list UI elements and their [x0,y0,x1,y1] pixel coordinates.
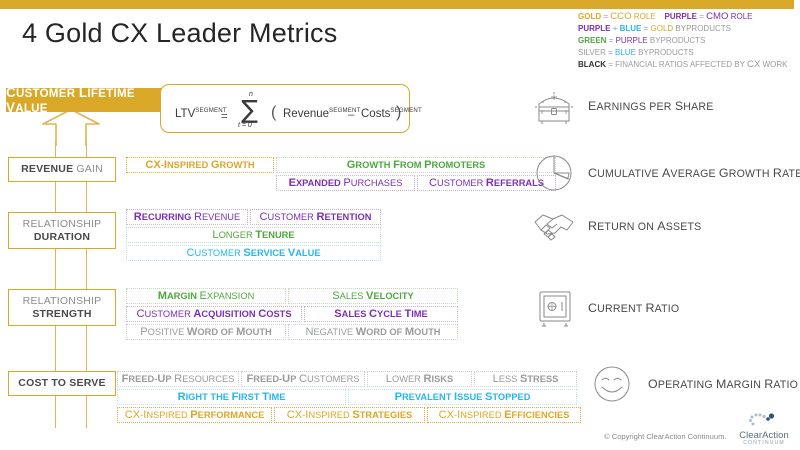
legend-row-green-byproducts: GREEN = PURPLE BYPRODUCTS [578,36,796,46]
legend-eq-3: = [644,24,649,33]
legend-token-blue-2: BLUE [615,48,636,57]
metric-line: Right the First Time Prevalent Issue Sto… [117,389,581,405]
legend-plus: + [613,24,618,33]
legend-token-cmo: CMO [706,11,728,22]
metric-expanded-purchases[interactable]: Expanded Purchases [276,175,415,191]
legend-token-gold: GOLD [578,12,601,21]
metric-customer-acquisition-costs[interactable]: Customer Acquisition Costs [126,306,302,322]
right-label-current-ratio: Current Ratio [588,301,679,315]
clearaction-logo: ClearAction CONTINUUM [735,412,793,446]
metric-sales-velocity[interactable]: Sales Velocity [288,288,458,304]
legend-eq-1: = [603,12,608,21]
legend-byproducts-3: BYPRODUCTS [638,48,694,57]
metric-line: Recurring Revenue Customer Retention [126,209,381,225]
legend-token-silver: SILVER [578,48,606,57]
metric-line: Customer Acquisition Costs Sales Cycle T… [126,306,458,322]
metrics-cost-to-serve: Freed-Up Resources Freed-Up Customers Lo… [117,371,581,423]
stage-revenue-gain-label: REVENUE GAIN [21,163,103,176]
metric-line: Expanded Purchases Customer Referrals [126,175,556,191]
metric-positive-word-of-mouth[interactable]: Positive Word of Mouth [126,324,286,340]
smiley-face-icon [590,362,634,411]
handshake-icon [531,210,577,249]
legend-row-gold-cco-purple-cmo: GOLD = CCO ROLE PURPLE = CMO ROLE [578,12,796,22]
stage-relationship-strength-label: RELATIONSHIPSTRENGTH [23,295,102,320]
metric-line: Customer Service Value [126,245,381,261]
logo-mark-icon [744,412,784,428]
stage-cost-to-serve[interactable]: COST TO SERVE [8,371,116,396]
page-title: 4 Gold CX Leader Metrics [22,18,337,49]
right-label-earnings-per-share: Earnings per Share [588,99,714,113]
metrics-revenue-gain: CX-Inspired Growth Growth From Promoters… [126,157,556,191]
metric-line: CX-Inspired Growth Growth From Promoters [126,157,556,173]
formula-sigma-lower: t = 0 [238,122,252,129]
metric-recurring-revenue[interactable]: Recurring Revenue [126,209,248,225]
legend-token-purple-3: PURPLE [616,36,648,45]
legend-eq-4: = [609,36,614,45]
metric-cx-inspired-efficiencies[interactable]: CX-Inspired Efficiencies [427,407,581,423]
right-label-operating-margin-ratio: Operating Margin Ratio [648,377,798,391]
metric-prevalent-issue-stopped[interactable]: Prevalent Issue Stopped [348,389,577,405]
color-legend: GOLD = CCO ROLE PURPLE = CMO ROLE PURPLE… [578,12,796,72]
metric-sales-cycle-time[interactable]: Sales Cycle Time [304,306,458,322]
metric-margin-expansion[interactable]: Margin Expansion [126,288,286,304]
customer-lifetime-value-header: Customer Lifetime Value [6,88,177,112]
formula-paren-close: ) [396,104,401,122]
metrics-relationship-duration: Recurring Revenue Customer Retention Lon… [126,209,381,261]
legend-role-2: ROLE [731,12,753,21]
metric-negative-word-of-mouth[interactable]: Negative Word of Mouth [288,324,458,340]
clv-label: Customer Lifetime Value [6,85,177,115]
metric-line: Longer Tenure [126,227,381,243]
legend-token-cco: CCO [610,11,631,22]
legend-row-black-ratios: BLACK = FINANCIAL RATIOS AFFECTED BY CX … [578,60,796,70]
metric-freed-up-resources[interactable]: Freed-Up Resources [117,371,239,387]
safe-vault-icon [536,288,574,333]
formula-equals: = [221,111,228,123]
formula-sigma: ∑ [241,97,258,122]
legend-row-gold-byproducts: PURPLE + BLUE = GOLD BYPRODUCTS [578,24,796,34]
legend-token-black: BLACK [578,60,606,69]
metric-line: CX-Inspired Performance CX-Inspired Stra… [117,407,581,423]
stage-relationship-duration[interactable]: RELATIONSHIPDURATION [8,212,116,249]
logo-text-secondary: CONTINUUM [735,440,793,446]
legend-financial-ratios: FINANCIAL RATIOS AFFECTED BY [615,60,745,69]
legend-eq-5: = [608,48,613,57]
legend-role-1: ROLE [634,12,656,21]
metric-growth-from-promoters[interactable]: Growth From Promoters [276,157,556,173]
metric-spacer [126,175,274,191]
formula-ltv: LTVSegment [175,108,227,120]
legend-token-purple: PURPLE [665,12,697,21]
legend-token-purple-2: PURPLE [578,24,610,33]
metric-line: Margin Expansion Sales Velocity [126,288,458,304]
legend-cx: CX [747,59,760,70]
metric-customer-retention[interactable]: Customer Retention [250,209,381,225]
stage-revenue-gain[interactable]: REVENUE GAIN [8,157,116,182]
legend-byproducts-2: BYPRODUCTS [650,36,706,45]
metric-customer-service-value[interactable]: Customer Service Value [126,245,381,261]
metric-lower-risks[interactable]: Lower Risks [367,371,472,387]
metric-cx-inspired-growth[interactable]: CX-Inspired Growth [126,157,274,173]
legend-row-silver-byproducts: SILVER = BLUE BYPRODUCTS [578,48,796,58]
stage-relationship-duration-label: RELATIONSHIPDURATION [23,218,102,243]
metric-line: Freed-Up Resources Freed-Up Customers Lo… [117,371,581,387]
pie-chart-icon [533,152,575,199]
formula-minus: – [348,109,354,121]
formula-paren-open: ( [271,104,276,122]
metric-freed-up-customers[interactable]: Freed-Up Customers [241,371,365,387]
metrics-relationship-strength: Margin Expansion Sales Velocity Customer… [126,288,458,340]
legend-eq-2: = [699,12,704,21]
legend-eq-6: = [608,60,613,69]
formula-sigma-upper: n [249,91,253,98]
legend-byproducts-1: BYPRODUCTS [675,24,731,33]
stage-cost-to-serve-label: COST TO SERVE [18,377,105,390]
treasure-chest-icon [533,88,575,131]
metric-less-stress[interactable]: Less Stress [474,371,577,387]
right-label-return-on-assets: Return on Assets [588,219,701,233]
legend-work: WORK [763,60,788,69]
right-label-cumulative-average-growth-rate: Cumulative Average Growth Rate [588,166,800,180]
formula-costs: CostsSegment [361,108,422,120]
logo-text-primary: ClearAction [735,429,793,440]
top-accent-bar [0,0,794,9]
copyright-text: © Copyright ClearAction Continuum. [604,432,727,441]
ltv-formula-box: LTVSegment = ∑ n t = 0 ( RevenueSegment … [160,84,410,133]
metric-cx-inspired-performance[interactable]: CX-Inspired Performance [117,407,272,423]
stage-relationship-strength[interactable]: RELATIONSHIPSTRENGTH [8,289,116,326]
metric-longer-tenure[interactable]: Longer Tenure [126,227,381,243]
legend-token-green: GREEN [578,36,606,45]
metric-line: Positive Word of Mouth Negative Word of … [126,324,458,340]
legend-token-gold-2: GOLD [651,24,674,33]
metric-right-the-first-time[interactable]: Right the First Time [117,389,346,405]
metric-cx-inspired-strategies[interactable]: CX-Inspired Strategies [274,407,425,423]
legend-token-blue: BLUE [620,24,642,33]
